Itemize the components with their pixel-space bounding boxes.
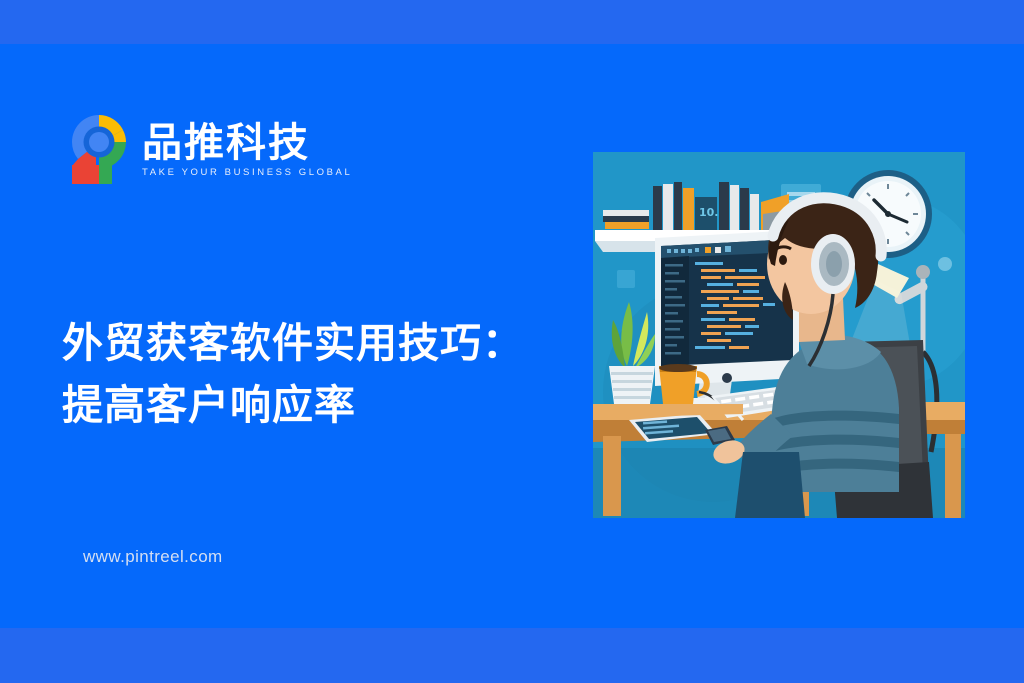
top-accent-band bbox=[0, 0, 1024, 44]
website-url[interactable]: www.pintreel.com bbox=[83, 547, 223, 567]
brand-logo[interactable]: 品推科技 TAKE YOUR BUSINESS GLOBAL bbox=[66, 110, 352, 188]
poster-canvas: 品推科技 TAKE YOUR BUSINESS GLOBAL 外贸获客软件实用技… bbox=[0, 0, 1024, 683]
brand-logo-text: 品推科技 TAKE YOUR BUSINESS GLOBAL bbox=[142, 120, 352, 178]
brand-tagline: TAKE YOUR BUSINESS GLOBAL bbox=[142, 167, 352, 178]
bottom-accent-band bbox=[0, 628, 1024, 683]
headline-line-1: 外贸获客软件实用技巧： bbox=[62, 312, 582, 374]
hero-illustration: 10.3 bbox=[593, 152, 965, 518]
poster-headline: 外贸获客软件实用技巧： 提高客户响应率 bbox=[62, 312, 582, 437]
pintreel-logo-icon bbox=[66, 110, 132, 188]
headline-line-2: 提高客户响应率 bbox=[62, 374, 582, 436]
brand-name-cn: 品推科技 bbox=[142, 122, 352, 164]
